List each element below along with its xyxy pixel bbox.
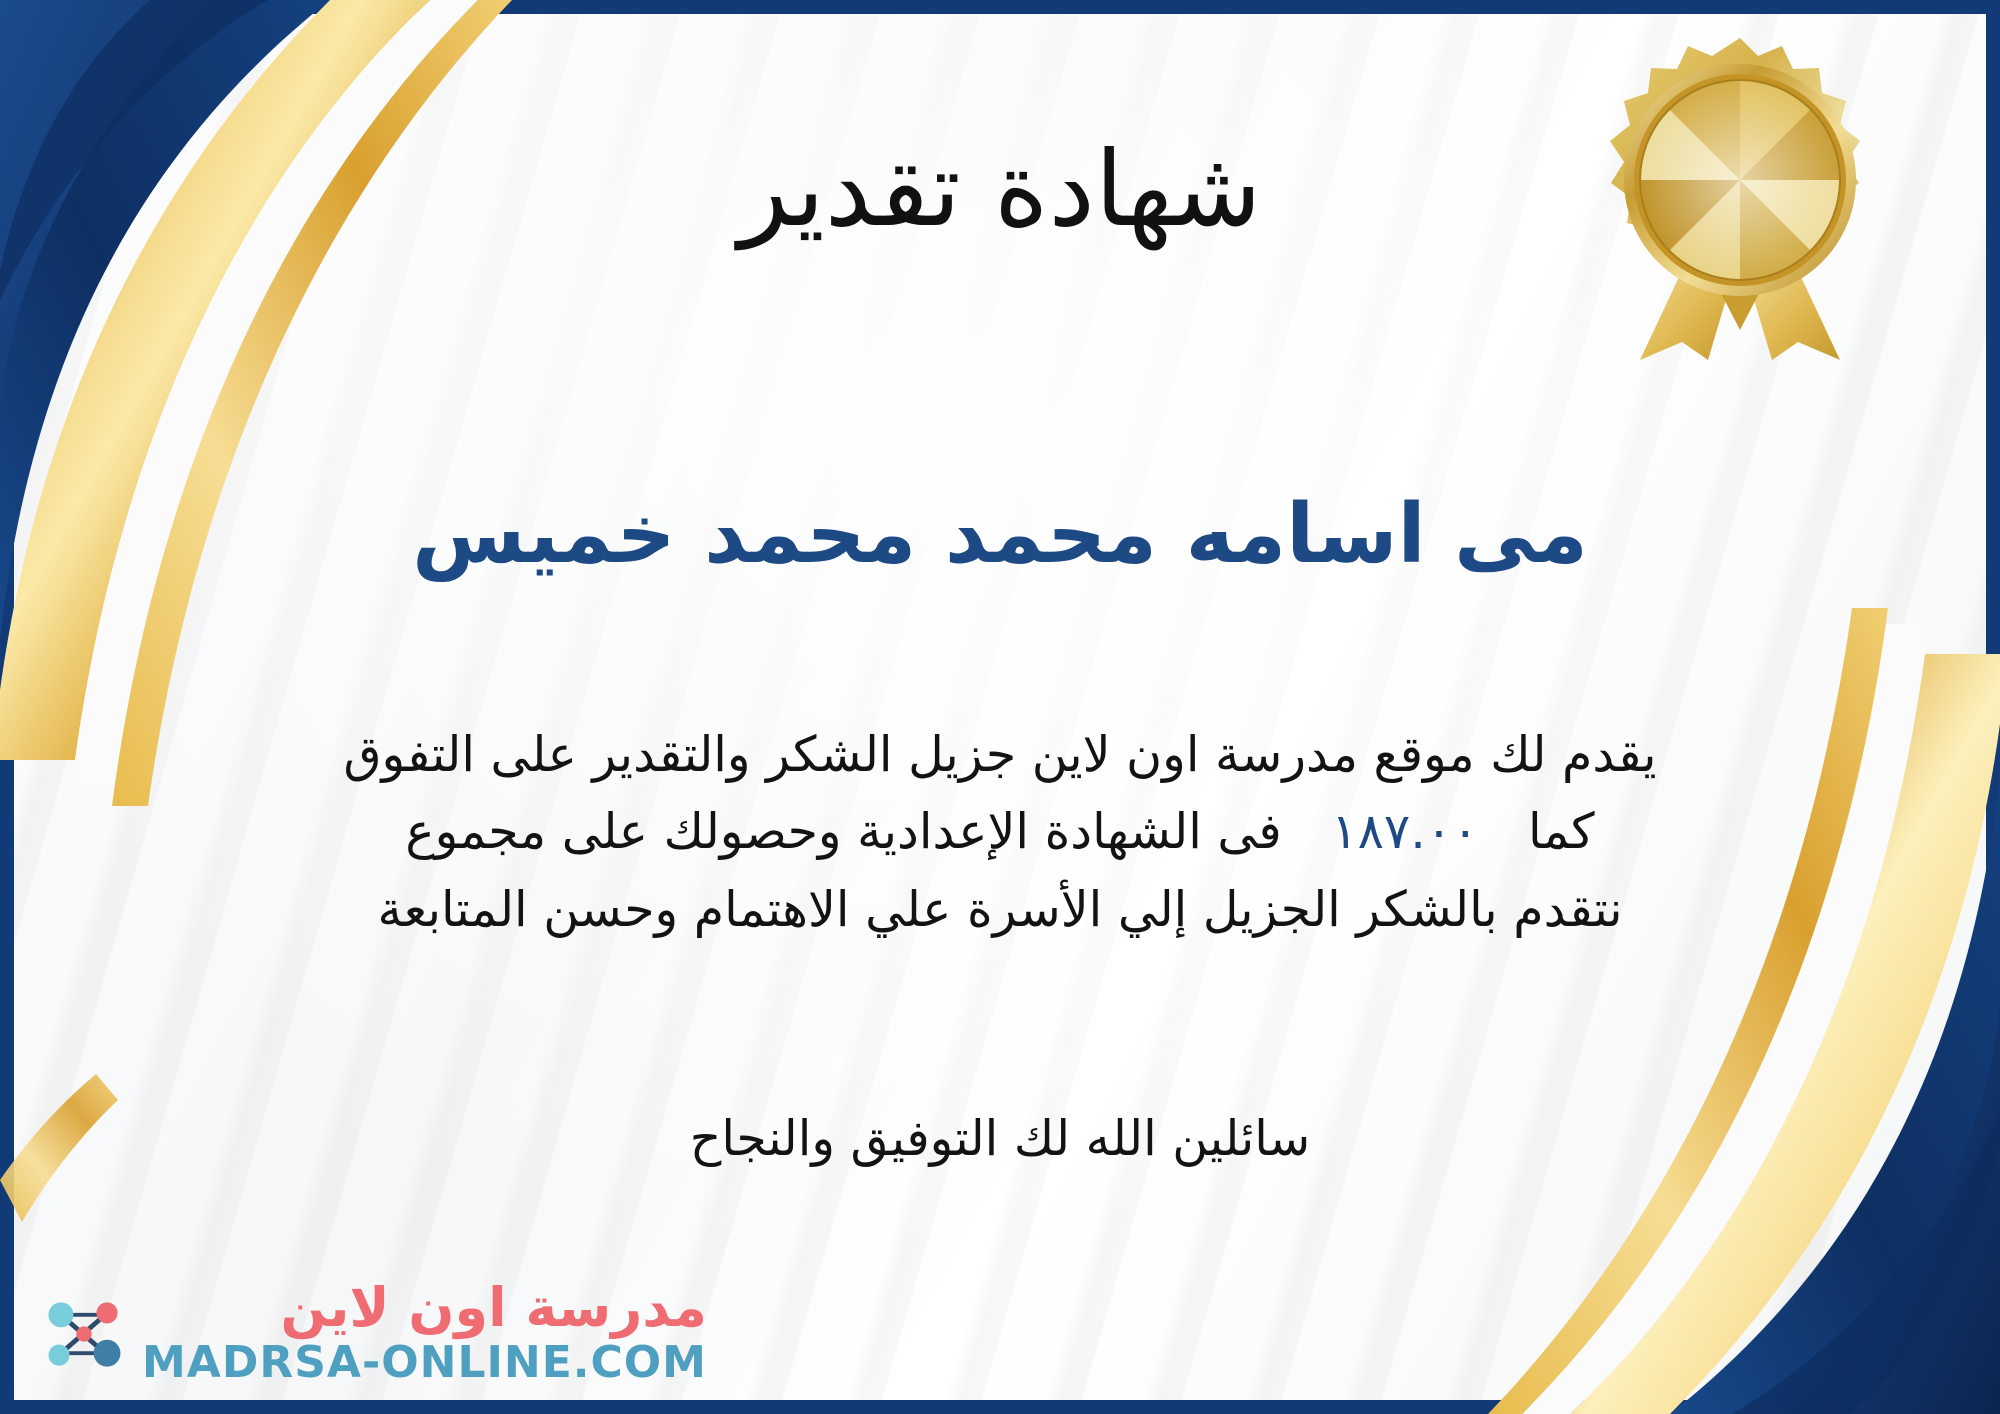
body-line-2-prefix: فى الشهادة الإعدادية وحصولك على مجموع [405,803,1281,860]
body-line-3: نتقدم بالشكر الجزيل إلي الأسرة علي الاهت… [60,871,1940,948]
brand-website: MADRSA-ONLINE.COM [142,1337,707,1388]
closing-line: سائلين الله لك التوفيق والنجاح [0,1110,2000,1167]
certificate-content: شهادة تقدير مى اسامه محمد محمد خميس يقدم… [0,0,2000,1414]
body-line-2: كما ١٨٧.٠٠ فى الشهادة الإعدادية وحصولك ع… [60,793,1940,870]
brand-logo[interactable]: مدرسة اون لاين MADRSA-ONLINE.COM [36,1280,707,1388]
brand-arabic-name: مدرسة اون لاين [281,1280,707,1337]
network-nodes-icon [36,1286,132,1382]
brand-text-block: مدرسة اون لاين MADRSA-ONLINE.COM [142,1280,707,1388]
certificate-page: شهادة تقدير مى اسامه محمد محمد خميس يقدم… [0,0,2000,1414]
recipient-name: مى اسامه محمد محمد خميس [0,484,2000,587]
certificate-title: شهادة تقدير [0,130,2000,250]
body-line-1: يقدم لك موقع مدرسة اون لاين جزيل الشكر و… [60,716,1940,793]
body-line-2-suffix: كما [1528,803,1595,860]
score-value: ١٨٧.٠٠ [1297,803,1512,860]
certificate-body: يقدم لك موقع مدرسة اون لاين جزيل الشكر و… [60,716,1940,948]
